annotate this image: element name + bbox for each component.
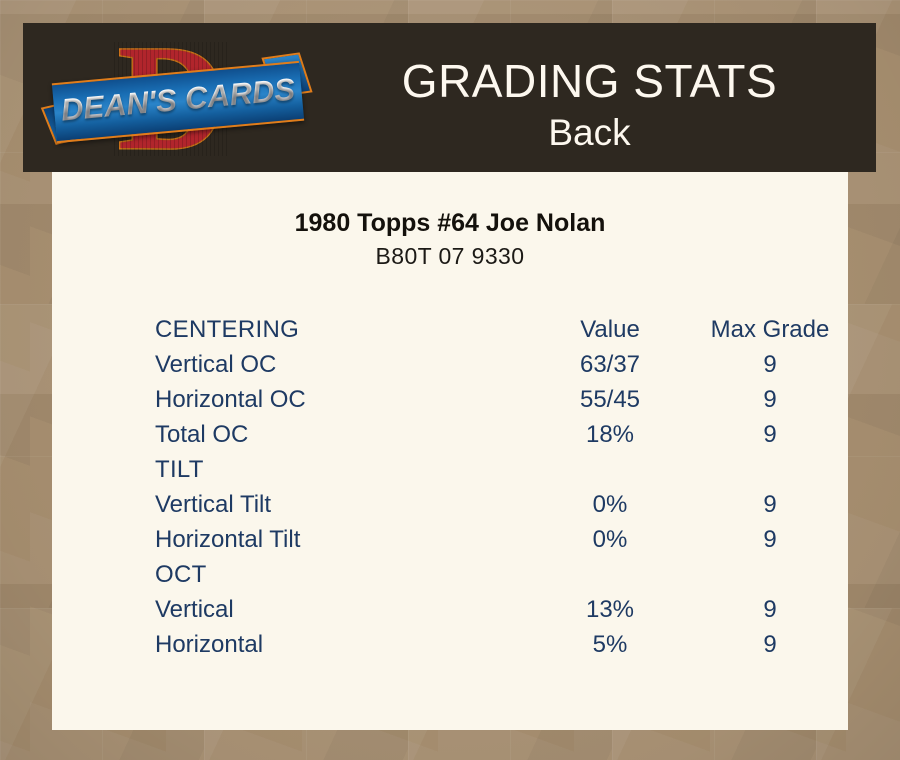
stat-label: Vertical Tilt xyxy=(155,487,525,522)
stats-section-header-oct: OCT xyxy=(155,557,845,592)
table-row: Horizontal OC55/459 xyxy=(155,382,845,417)
stat-max-grade: 9 xyxy=(695,592,845,627)
table-row: Horizontal5%9 xyxy=(155,627,845,662)
table-row: Vertical Tilt0%9 xyxy=(155,487,845,522)
stat-value: 13% xyxy=(525,592,695,627)
stat-value: 0% xyxy=(525,522,695,557)
page-subtitle: Back xyxy=(303,111,876,155)
page-root: D DEAN'S CARDS GRADING STATS Back 1980 T… xyxy=(0,0,900,760)
section-grade-spacer xyxy=(695,452,845,487)
stat-label: Vertical OC xyxy=(155,347,525,382)
content-panel: 1980 Topps #64 Joe Nolan B80T 07 9330 CE… xyxy=(52,172,848,730)
stat-label: Total OC xyxy=(155,417,525,452)
section-value-spacer xyxy=(525,557,695,592)
stats-section-header-tilt: TILT xyxy=(155,452,845,487)
section-value-spacer xyxy=(525,452,695,487)
logo-wordmark: DEAN'S CARDS xyxy=(52,61,304,139)
stat-label: Horizontal xyxy=(155,627,525,662)
stat-max-grade: 9 xyxy=(695,382,845,417)
header-bar: D DEAN'S CARDS GRADING STATS Back xyxy=(23,23,876,172)
table-row: Vertical OC63/379 xyxy=(155,347,845,382)
stat-value: 63/37 xyxy=(525,347,695,382)
stat-value: 55/45 xyxy=(525,382,695,417)
table-row: Vertical13%9 xyxy=(155,592,845,627)
stat-max-grade: 9 xyxy=(695,347,845,382)
table-row: Total OC18%9 xyxy=(155,417,845,452)
stat-max-grade: 9 xyxy=(695,627,845,662)
section-label: OCT xyxy=(155,557,525,592)
column-header-value: Value xyxy=(525,312,695,347)
stat-max-grade: 9 xyxy=(695,522,845,557)
stat-value: 0% xyxy=(525,487,695,522)
stat-max-grade: 9 xyxy=(695,417,845,452)
stats-table-body: CENTERINGValueMax GradeVertical OC63/379… xyxy=(155,312,845,662)
column-header-max-grade: Max Grade xyxy=(695,312,845,347)
card-title: 1980 Topps #64 Joe Nolan xyxy=(52,208,848,238)
stat-max-grade: 9 xyxy=(695,487,845,522)
column-header-category: CENTERING xyxy=(155,312,525,347)
stat-value: 5% xyxy=(525,627,695,662)
card-code: B80T 07 9330 xyxy=(52,242,848,270)
stat-value: 18% xyxy=(525,417,695,452)
deans-cards-logo[interactable]: D DEAN'S CARDS xyxy=(54,28,302,168)
page-title: GRADING STATS xyxy=(303,54,876,108)
section-label: TILT xyxy=(155,452,525,487)
stat-label: Horizontal Tilt xyxy=(155,522,525,557)
grading-stats-table: CENTERINGValueMax GradeVertical OC63/379… xyxy=(155,312,845,662)
table-row: Horizontal Tilt0%9 xyxy=(155,522,845,557)
stats-section-header-centering: CENTERINGValueMax Grade xyxy=(155,312,845,347)
section-grade-spacer xyxy=(695,557,845,592)
stat-label: Horizontal OC xyxy=(155,382,525,417)
stat-label: Vertical xyxy=(155,592,525,627)
